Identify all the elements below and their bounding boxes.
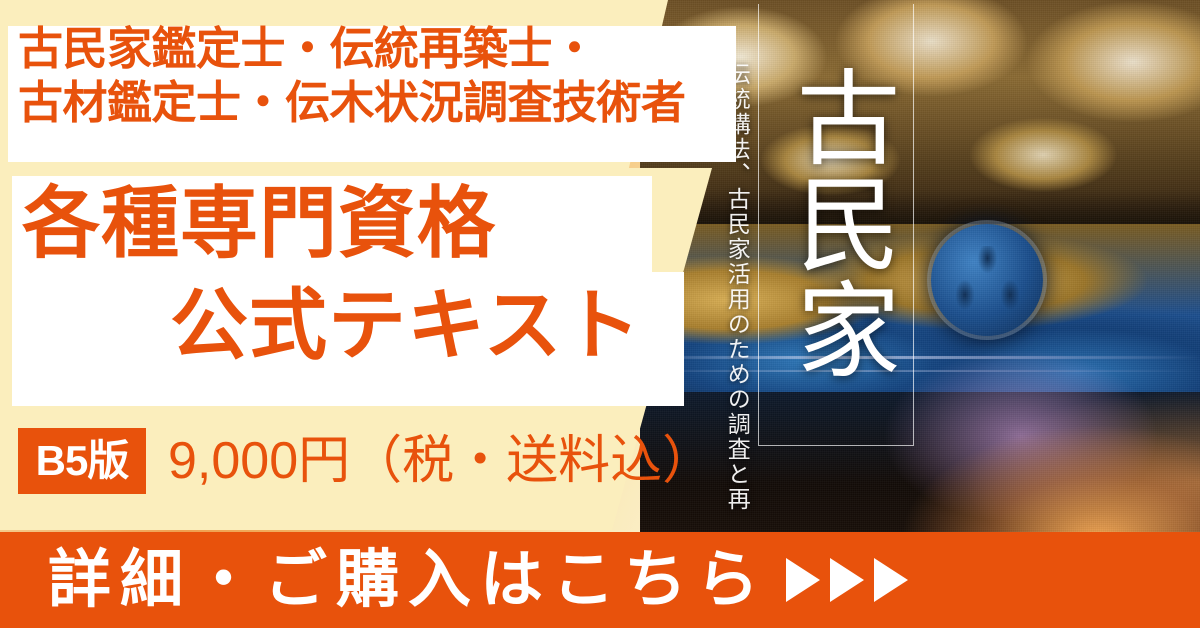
promo-banner: 古民家 伝統構法、古民家活用のための調査と再生の 古民家鑑定士・伝統再築士・ 古… [0, 0, 1200, 628]
page-title-line-2: 公式テキスト [170, 286, 642, 364]
cta-bar[interactable]: 詳細・ご購入はこちら [0, 532, 1200, 628]
play-triangle-icon [786, 558, 820, 602]
play-triangle-icon [830, 558, 864, 602]
cta-arrow-group [786, 558, 908, 602]
price-text: 9,000円（税・送料込） [168, 428, 714, 494]
qualifications-headline: 古民家鑑定士・伝統再築士・ 古材鑑定士・伝木状況調査技術者 [18, 22, 734, 129]
format-badge-b5: B5版 [18, 428, 146, 494]
cta-label: 詳細・ご購入はこちら [48, 549, 768, 612]
page-title-line-1: 各種専門資格 [22, 184, 496, 262]
book-cover-title: 古民家 [766, 8, 906, 438]
play-triangle-icon [874, 558, 908, 602]
